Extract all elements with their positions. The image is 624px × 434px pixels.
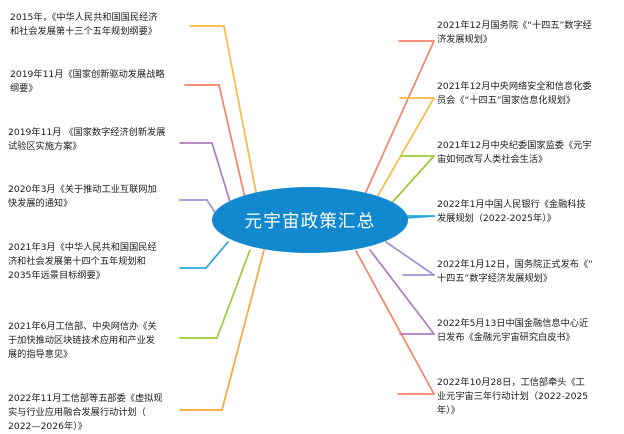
connector-leg: [370, 250, 434, 334]
branch-label-left-6[interactable]: 2021年6月工信部、中央网信办《关 于加快推动区块链技术应用和产业发 展的指导…: [8, 320, 200, 363]
connector-right-7: [356, 251, 434, 394]
connector-leg: [386, 242, 434, 275]
center-node[interactable]: 元宇宙政策汇总: [212, 187, 408, 253]
branch-label-left-2[interactable]: 2019年11月《国家创新驱动发展战略 纲要》: [10, 68, 196, 96]
branch-label-right-1[interactable]: 2021年12月国务院《“十四五”数字经 济发展规划》: [437, 19, 619, 47]
connector-leg: [405, 216, 434, 218]
connector-leg: [388, 156, 434, 207]
connector-leg: [356, 251, 434, 394]
center-node-label: 元宇宙政策汇总: [245, 208, 376, 233]
connector-right-2: [376, 98, 434, 199]
branch-label-left-7[interactable]: 2022年11月工信部等五部委《虚拟现 实与行业应用融合发展行动计划（ 2022…: [8, 392, 200, 434]
connector-left-1: [190, 26, 256, 192]
connector-right-1: [366, 41, 434, 192]
branch-label-left-1[interactable]: 2015年，《中华人民共和国国民经济 和社会发展第十三个五年规划纲要》: [10, 11, 196, 39]
connector-leg: [224, 26, 256, 192]
connector-leg: [206, 242, 228, 268]
connector-leg: [217, 250, 250, 338]
connector-leg: [219, 85, 245, 198]
connector-right-5: [386, 242, 434, 275]
branch-label-left-5[interactable]: 2021年3月《中华人民共和国国民经 济和社会发展第十四个五年规划和 2035年…: [8, 241, 200, 284]
branch-label-left-3[interactable]: 2019年11月 《国家数字经济创新发展 试验区实施方案》: [8, 126, 198, 154]
branch-label-right-4[interactable]: 2022年1月中国人民银行《金融科技 发展规划（2022-2025年）》: [437, 198, 619, 226]
branch-label-left-4[interactable]: 2020年3月《关于推动工业互联网加 快发展的通知》: [8, 183, 198, 211]
connector-leg: [212, 143, 231, 205]
mindmap-canvas: 元宇宙政策汇总 2015年，《中华人民共和国国民经济 和社会发展第十三个五年规划…: [0, 0, 624, 434]
branch-label-right-5[interactable]: 2022年1月12日，国务院正式发布《“ 十四五”数字经济发展规划》: [437, 258, 619, 286]
connector-leg: [222, 250, 264, 410]
branch-label-right-6[interactable]: 2022年5月13日中国金融信息中心近 日发布《金融元宇宙研究白皮书》: [437, 317, 619, 345]
connector-leg: [376, 98, 434, 199]
branch-label-right-7[interactable]: 2022年10月28日，工信部牵头《工 业元宇宙三年行动计划（2022-2025…: [437, 376, 622, 419]
branch-label-right-3[interactable]: 2021年12月中央纪委国家监委《元宇 宙如何改写人类社会生活》: [437, 139, 619, 167]
branch-label-right-2[interactable]: 2021年12月中央网络安全和信息化委 员会《“十四五”国家信息化规划》: [437, 80, 619, 108]
connector-leg: [366, 41, 434, 192]
connector-right-3: [388, 156, 434, 207]
connector-right-6: [370, 250, 434, 334]
